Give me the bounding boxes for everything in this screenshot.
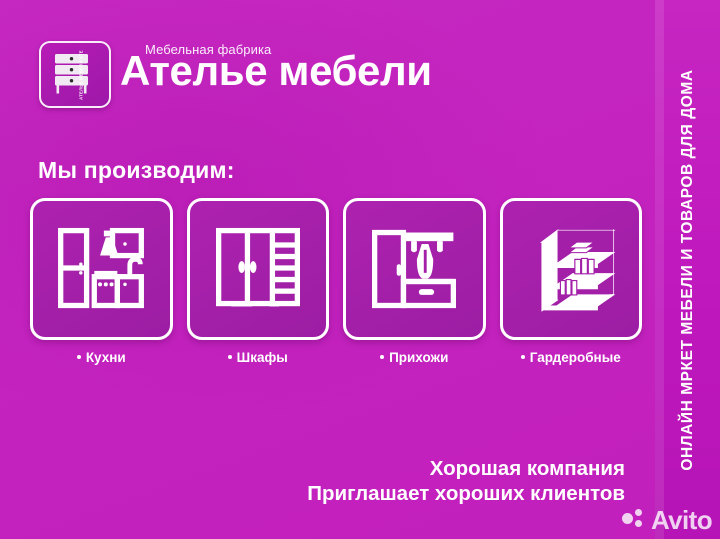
dresser-icon <box>53 53 90 95</box>
wardrobe-icon <box>210 221 306 317</box>
side-banner-text: ОНЛАЙН МРКЕТ МЕБЕЛИ И ТОВАРОВ ДЛЯ ДОМА <box>679 69 697 470</box>
avito-dots-logo-icon <box>622 509 648 531</box>
product-card-kitchens[interactable] <box>30 198 173 340</box>
product-label-kitchens: Кухни <box>30 350 173 365</box>
product-card-hallways[interactable] <box>343 198 486 340</box>
label-text: Шкафы <box>237 350 288 365</box>
product-card-wardrobes[interactable] <box>187 198 330 340</box>
bookshelf-icon <box>521 220 621 318</box>
product-label-closets: Гардеробные <box>500 350 643 365</box>
tagline-line-1: Хорошая компания <box>307 456 625 481</box>
brand-title: Ателье мебели <box>120 50 432 92</box>
advertisement-banner: ОНЛАЙН МРКЕТ МЕБЕЛИ И ТОВАРОВ ДЛЯ ДОМА А… <box>0 0 720 539</box>
logo-badge-vertical-text: АТЕЛЬЕ МЕБЕЛИ АТЕ <box>79 50 84 100</box>
bullet-icon <box>77 355 81 359</box>
logo-badge: АТЕЛЬЕ МЕБЕЛИ АТЕ <box>39 41 111 108</box>
avito-wordmark: Avito <box>651 507 712 533</box>
tagline-line-2: Приглашает хороших клиентов <box>307 481 625 506</box>
product-card-list <box>30 198 642 340</box>
label-text: Гардеробные <box>530 350 621 365</box>
product-label-hallways: Прихожи <box>343 350 486 365</box>
label-text: Прихожи <box>389 350 448 365</box>
product-label-list: Кухни Шкафы Прихожи Гардеробные <box>30 350 642 365</box>
kitchen-icon <box>53 221 149 317</box>
tagline: Хорошая компания Приглашает хороших клие… <box>307 456 625 506</box>
bullet-icon <box>380 355 384 359</box>
product-label-wardrobes: Шкафы <box>187 350 330 365</box>
section-heading: Мы производим: <box>38 157 235 184</box>
bullet-icon <box>521 355 525 359</box>
side-banner: ОНЛАЙН МРКЕТ МЕБЕЛИ И ТОВАРОВ ДЛЯ ДОМА <box>655 0 720 539</box>
hallway-icon <box>366 221 462 317</box>
label-text: Кухни <box>86 350 126 365</box>
bullet-icon <box>228 355 232 359</box>
avito-watermark: Avito <box>622 507 712 533</box>
product-card-closets[interactable] <box>500 198 643 340</box>
